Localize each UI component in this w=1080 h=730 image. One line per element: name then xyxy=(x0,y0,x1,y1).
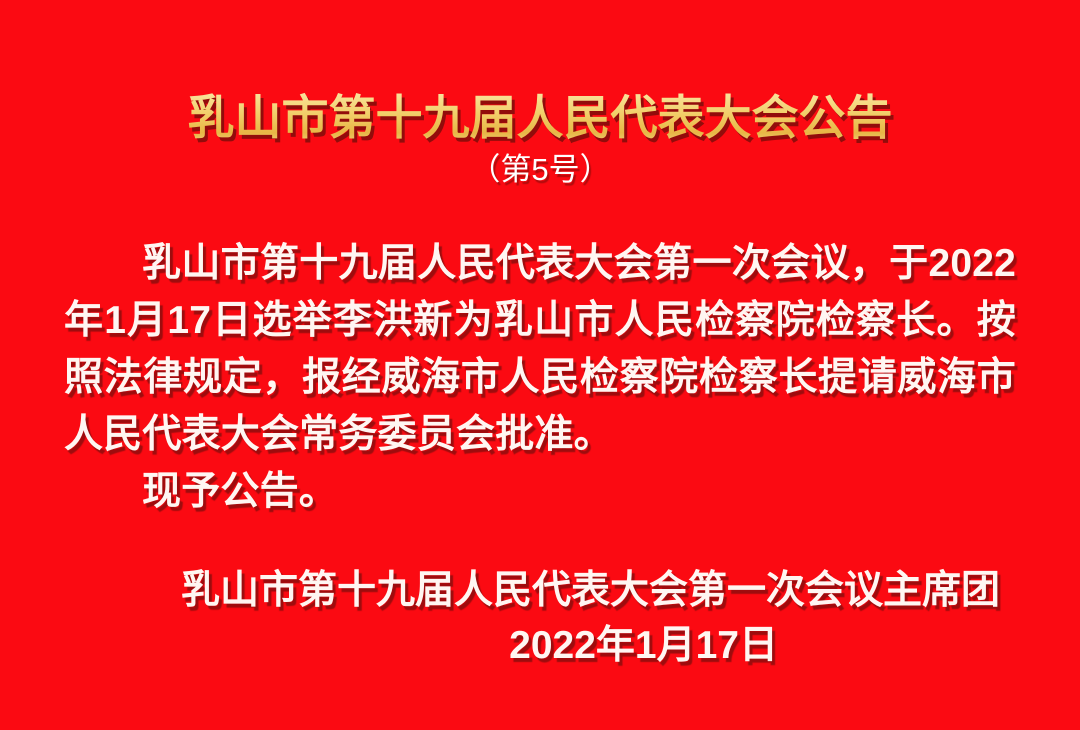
body-paragraph-2: 现予公告。 xyxy=(64,463,1016,520)
document-number: （第5号） xyxy=(0,148,1080,192)
announcement-poster: 乳山市第十九届人民代表大会公告 （第5号） 乳山市第十九届人民代表大会第一次会议… xyxy=(0,0,1080,730)
page-title: 乳山市第十九届人民代表大会公告 xyxy=(0,88,1080,150)
signature-block: 乳山市第十九届人民代表大会第一次会议主席团 2022年1月17日 xyxy=(0,563,1000,673)
signature-date: 2022年1月17日 xyxy=(0,618,1000,673)
document-body: 乳山市第十九届人民代表大会第一次会议，于2022年1月17日选举李洪新为乳山市人… xyxy=(64,235,1016,520)
signature-issuer: 乳山市第十九届人民代表大会第一次会议主席团 xyxy=(181,569,1000,612)
body-paragraph-1: 乳山市第十九届人民代表大会第一次会议，于2022年1月17日选举李洪新为乳山市人… xyxy=(64,235,1016,463)
